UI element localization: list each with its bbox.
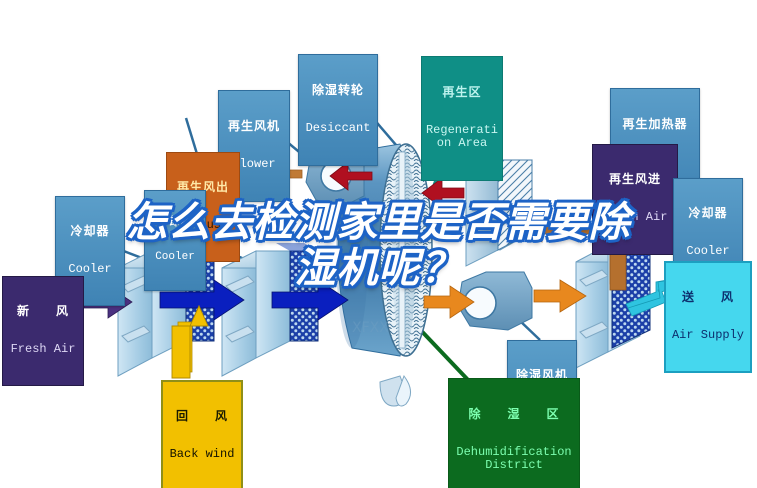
label-regeneration-area-en: Regenerati on Area — [424, 124, 500, 149]
label-desiccant-rotor[interactable]: 除湿转轮 Desiccant — [298, 54, 378, 166]
label-fresh-air-en: Fresh Air — [5, 343, 81, 356]
label-regeneration-fresh-air[interactable]: 再生风进 Fresh Air — [592, 144, 678, 255]
label-regeneration-heater-cn: 再生加热器 — [613, 118, 697, 131]
label-dehumidification-district[interactable]: 除 湿 区 Dehumidification District — [448, 378, 580, 488]
label-regeneration-area-cn: 再生区 — [424, 86, 500, 99]
svg-text:XFXX: XFXX — [352, 320, 389, 336]
label-cooler-left-1-en: Cooler — [58, 263, 122, 276]
label-fresh-air-cn: 新 风 — [5, 305, 81, 318]
label-air-supply[interactable]: 送 风 Air Supply — [664, 261, 752, 373]
label-back-wind-cn: 回 风 — [165, 410, 239, 423]
label-regeneration-fresh-air-cn: 再生风进 — [595, 173, 675, 186]
label-cooler-left-2[interactable]: 冷却器 Cooler — [144, 190, 206, 291]
label-cooler-left-2-en: Cooler — [147, 252, 203, 264]
label-cooler-right-cn: 冷却器 — [676, 207, 740, 220]
cooler-coil-2 — [222, 243, 318, 376]
label-cooler-left-2-cn: 冷却器 — [147, 217, 203, 229]
label-regeneration-blower-cn: 再生风机 — [221, 120, 287, 133]
diagram-canvas: XFXX — [0, 0, 757, 488]
label-desiccant-rotor-en: Desiccant — [301, 122, 375, 135]
label-regeneration-fresh-air-en: Fresh Air — [595, 211, 675, 224]
label-dehumidification-district-en: Dehumidification District — [451, 446, 577, 471]
label-air-supply-en: Air Supply — [668, 329, 748, 342]
label-regeneration-area[interactable]: 再生区 Regenerati on Area — [421, 56, 503, 181]
label-back-wind[interactable]: 回 风 Back wind — [161, 380, 243, 488]
label-cooler-left-1-cn: 冷却器 — [58, 225, 122, 238]
label-dehumidification-district-cn: 除 湿 区 — [451, 408, 577, 421]
label-air-supply-cn: 送 风 — [668, 291, 748, 304]
label-fresh-air[interactable]: 新 风 Fresh Air — [2, 276, 84, 386]
label-cooler-right-en: Cooler — [676, 245, 740, 258]
label-back-wind-en: Back wind — [165, 448, 239, 461]
label-desiccant-rotor-cn: 除湿转轮 — [301, 84, 375, 97]
